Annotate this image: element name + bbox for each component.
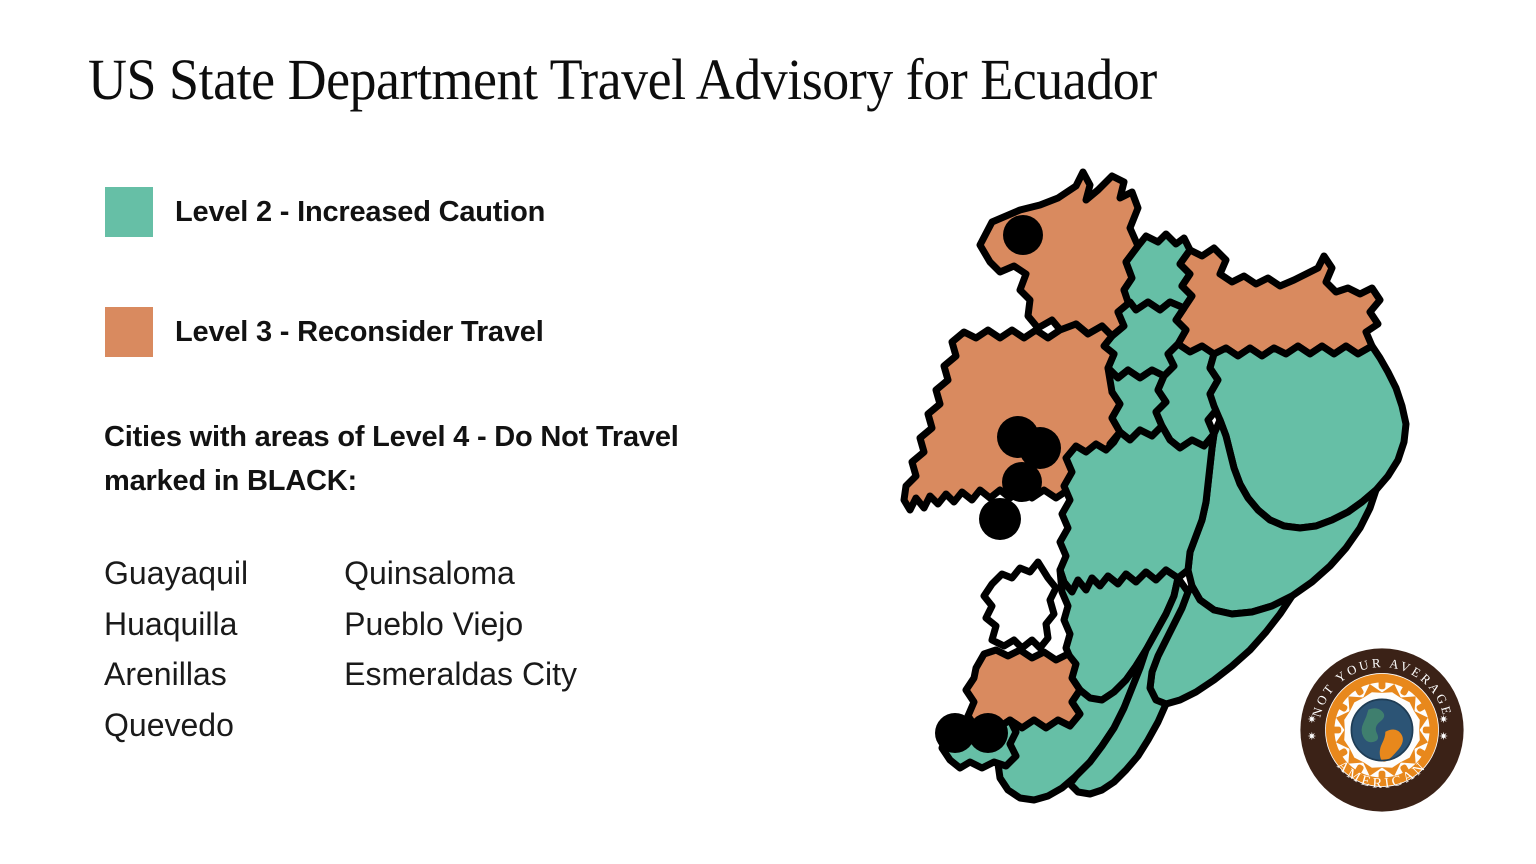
marker-quevedo [1002,462,1042,502]
province-carchi [1124,234,1192,310]
marker-arenillas [968,713,1008,753]
page-root: US State Department Travel Advisory for … [0,0,1536,864]
gulf-of-guayaquil-inlet [984,562,1056,648]
marker-esmeraldas-city [1003,215,1043,255]
city-column-2: Quinsaloma Pueblo Viejo Esmeraldas City [344,548,577,750]
legend-item-level-3: Level 3 - Reconsider Travel [105,306,805,358]
city-item: Pueblo Viejo [344,599,577,650]
city-item: Esmeraldas City [344,649,577,700]
level-4-heading: Cities with areas of Level 4 - Do Not Tr… [104,415,724,503]
logo-globe-icon [1351,699,1412,761]
city-item: Guayaquil [104,548,248,599]
legend-label-level-2: Level 2 - Increased Caution [175,196,545,229]
province-esmeraldas [980,172,1138,336]
legend-swatch-level-3 [105,307,153,357]
legend-label-level-3: Level 3 - Reconsider Travel [175,316,544,349]
province-los-rios [1060,426,1214,592]
svg-text:✷: ✷ [1439,714,1448,726]
legend-swatch-level-2 [105,187,153,237]
page-title: US State Department Travel Advisory for … [88,46,1371,113]
city-item: Quinsaloma [344,548,577,599]
city-item: Quevedo [104,700,248,751]
province-sucumbios [1176,248,1380,356]
not-your-average-american-logo: NOT YOUR AVERAGE AMERICAN ✷ ✷ ✷ ✷ [1297,645,1467,815]
city-column-1: Guayaquil Huaquilla Arenillas Quevedo [104,548,248,750]
svg-text:✷: ✷ [1439,731,1448,743]
city-item: Huaquilla [104,599,248,650]
svg-text:✷: ✷ [1307,731,1316,743]
legend: Level 2 - Increased Caution Level 3 - Re… [105,186,805,426]
level-4-city-lists: Guayaquil Huaquilla Arenillas Quevedo Qu… [104,548,577,750]
marker-guayaquil [979,498,1021,540]
city-item: Arenillas [104,649,248,700]
legend-item-level-2: Level 2 - Increased Caution [105,186,805,238]
svg-text:✷: ✷ [1307,714,1316,726]
